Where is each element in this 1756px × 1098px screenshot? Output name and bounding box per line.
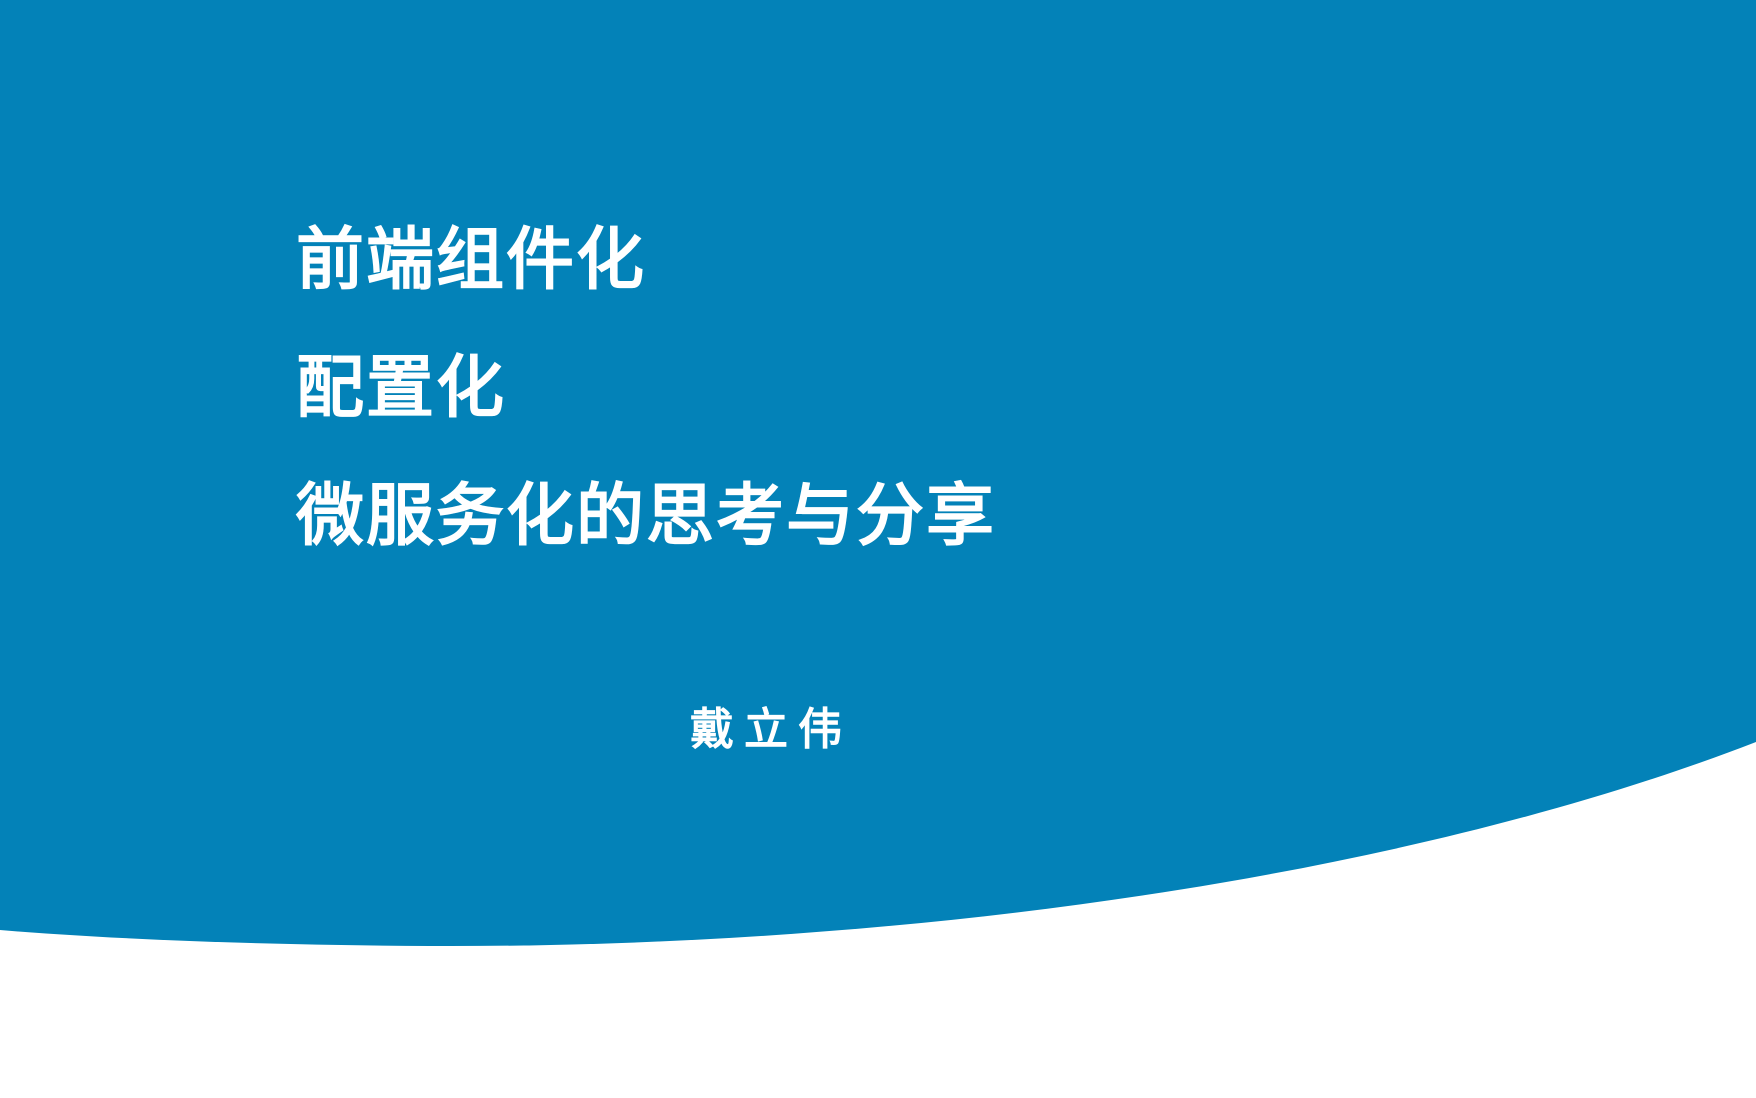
title-line-1: 前端组件化 <box>296 196 1496 324</box>
title-line-2: 配置化 <box>296 324 1496 452</box>
title-slide: 前端组件化 配置化 微服务化的思考与分享 戴立伟 <box>0 0 1756 1098</box>
slide-title-block: 前端组件化 配置化 微服务化的思考与分享 <box>296 196 1496 580</box>
author-name: 戴立伟 <box>690 700 852 760</box>
slide-content: 前端组件化 配置化 微服务化的思考与分享 戴立伟 <box>0 0 1756 1098</box>
title-line-3: 微服务化的思考与分享 <box>296 452 1496 580</box>
